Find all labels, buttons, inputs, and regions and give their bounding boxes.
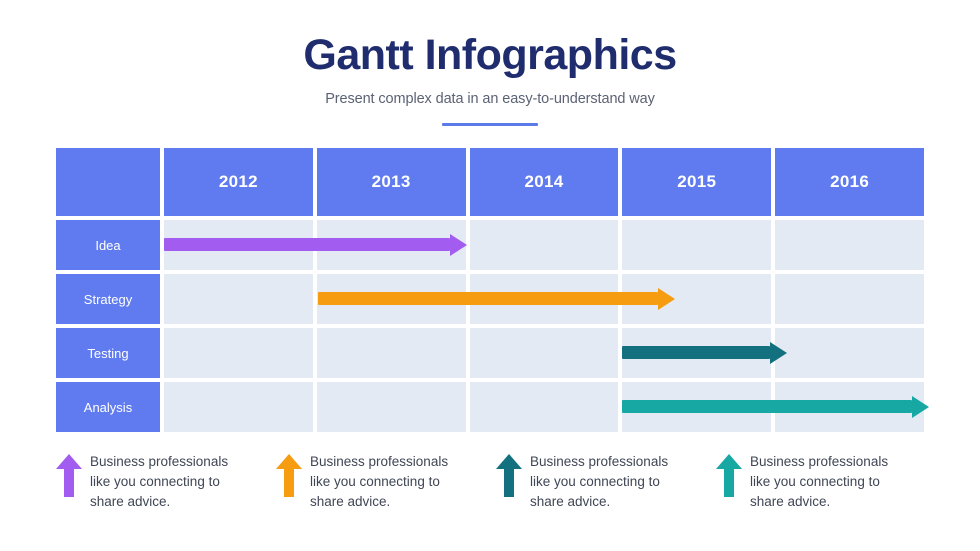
- title-divider: [442, 123, 538, 126]
- table-header-row: 2012 2013 2014 2015 2016: [56, 148, 924, 216]
- legend-text-3: Business professionals like you connecti…: [522, 452, 690, 512]
- cell-strategy-2015: [622, 274, 771, 324]
- cell-testing-2013: [317, 328, 466, 378]
- legend-arrow-up-icon-3: [496, 454, 522, 498]
- table-row: Analysis: [56, 382, 924, 432]
- cell-analysis-2012: [164, 382, 313, 432]
- legend-item-testing: Business professionals like you connecti…: [496, 452, 716, 512]
- column-header-2016: 2016: [775, 148, 924, 216]
- table-row: Strategy: [56, 274, 924, 324]
- cell-idea-2013: [317, 220, 466, 270]
- row-label-testing: Testing: [56, 328, 160, 378]
- cell-testing-2016: [775, 328, 924, 378]
- cell-idea-2016: [775, 220, 924, 270]
- cell-strategy-2014: [470, 274, 619, 324]
- cell-strategy-2012: [164, 274, 313, 324]
- cell-idea-2014: [470, 220, 619, 270]
- cell-analysis-2015: [622, 382, 771, 432]
- cell-testing-2012: [164, 328, 313, 378]
- cell-idea-2012: [164, 220, 313, 270]
- legend-arrow-up-icon-4: [716, 454, 742, 498]
- legend-text-4: Business professionals like you connecti…: [742, 452, 910, 512]
- column-header-2012: 2012: [164, 148, 313, 216]
- header: Gantt Infographics Present complex data …: [0, 0, 980, 126]
- table-row: Testing: [56, 328, 924, 378]
- slide-root: Gantt Infographics Present complex data …: [0, 0, 980, 551]
- legend: Business professionals like you connecti…: [56, 452, 936, 512]
- legend-arrowshaft-4: [724, 467, 734, 497]
- table-row: Idea: [56, 220, 924, 270]
- legend-arrow-up-icon-2: [276, 454, 302, 498]
- cell-testing-2015: [622, 328, 771, 378]
- legend-arrowshaft-2: [284, 467, 294, 497]
- legend-text-2: Business professionals like you connecti…: [302, 452, 470, 512]
- cell-analysis-2016: [775, 382, 924, 432]
- gantt-table: 2012 2013 2014 2015 2016 Idea Strategy T…: [56, 148, 924, 432]
- legend-arrowshaft-1: [64, 467, 74, 497]
- column-header-2013: 2013: [317, 148, 466, 216]
- row-label-idea: Idea: [56, 220, 160, 270]
- page-subtitle: Present complex data in an easy-to-under…: [0, 91, 980, 107]
- legend-arrow-up-icon-1: [56, 454, 82, 498]
- legend-item-strategy: Business professionals like you connecti…: [276, 452, 496, 512]
- legend-item-idea: Business professionals like you connecti…: [56, 452, 276, 512]
- row-label-analysis: Analysis: [56, 382, 160, 432]
- page-title: Gantt Infographics: [0, 32, 980, 79]
- cell-analysis-2014: [470, 382, 619, 432]
- legend-text-1: Business professionals like you connecti…: [82, 452, 250, 512]
- cell-analysis-2013: [317, 382, 466, 432]
- cell-idea-2015: [622, 220, 771, 270]
- table-corner-cell: [56, 148, 160, 216]
- cell-strategy-2016: [775, 274, 924, 324]
- column-header-2014: 2014: [470, 148, 619, 216]
- cell-testing-2014: [470, 328, 619, 378]
- legend-arrowshaft-3: [504, 467, 514, 497]
- column-header-2015: 2015: [622, 148, 771, 216]
- row-label-strategy: Strategy: [56, 274, 160, 324]
- legend-item-analysis: Business professionals like you connecti…: [716, 452, 936, 512]
- cell-strategy-2013: [317, 274, 466, 324]
